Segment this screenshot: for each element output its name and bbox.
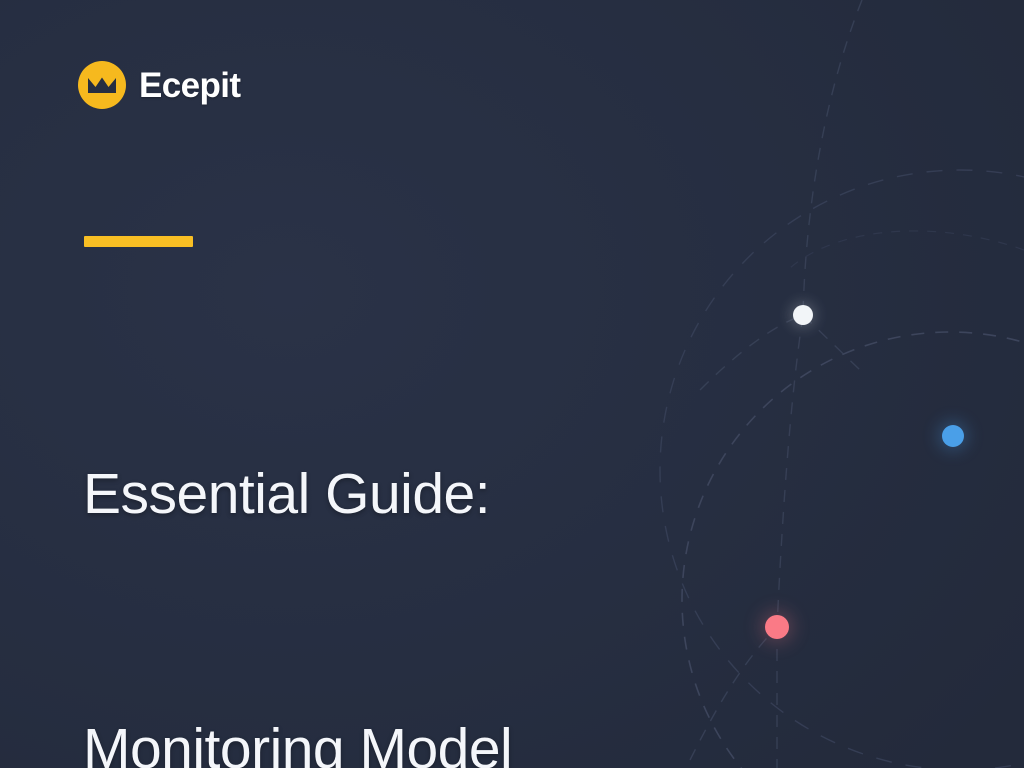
brand-name-text: Ecepit	[139, 68, 240, 103]
headline-line-1: Essential Guide:	[83, 452, 723, 537]
page-title: Essential Guide: Monitoring Model Monito…	[83, 282, 723, 768]
cover-slide: Ecepit Essential Guide: Monitoring Model…	[0, 0, 1024, 768]
brand-mark-icon	[78, 61, 126, 109]
orbit-dashed-circle	[682, 332, 1024, 768]
chart-zigzag-icon	[87, 75, 117, 95]
brand-logo: Ecepit	[78, 61, 240, 109]
headline-line-2: Monitoring Model	[83, 707, 723, 768]
accent-bar	[84, 236, 193, 247]
node-dot-pink	[765, 615, 789, 639]
node-dot-blue	[942, 425, 964, 447]
orbit-faint-arc	[790, 231, 1024, 268]
node-dot-white	[793, 305, 813, 325]
